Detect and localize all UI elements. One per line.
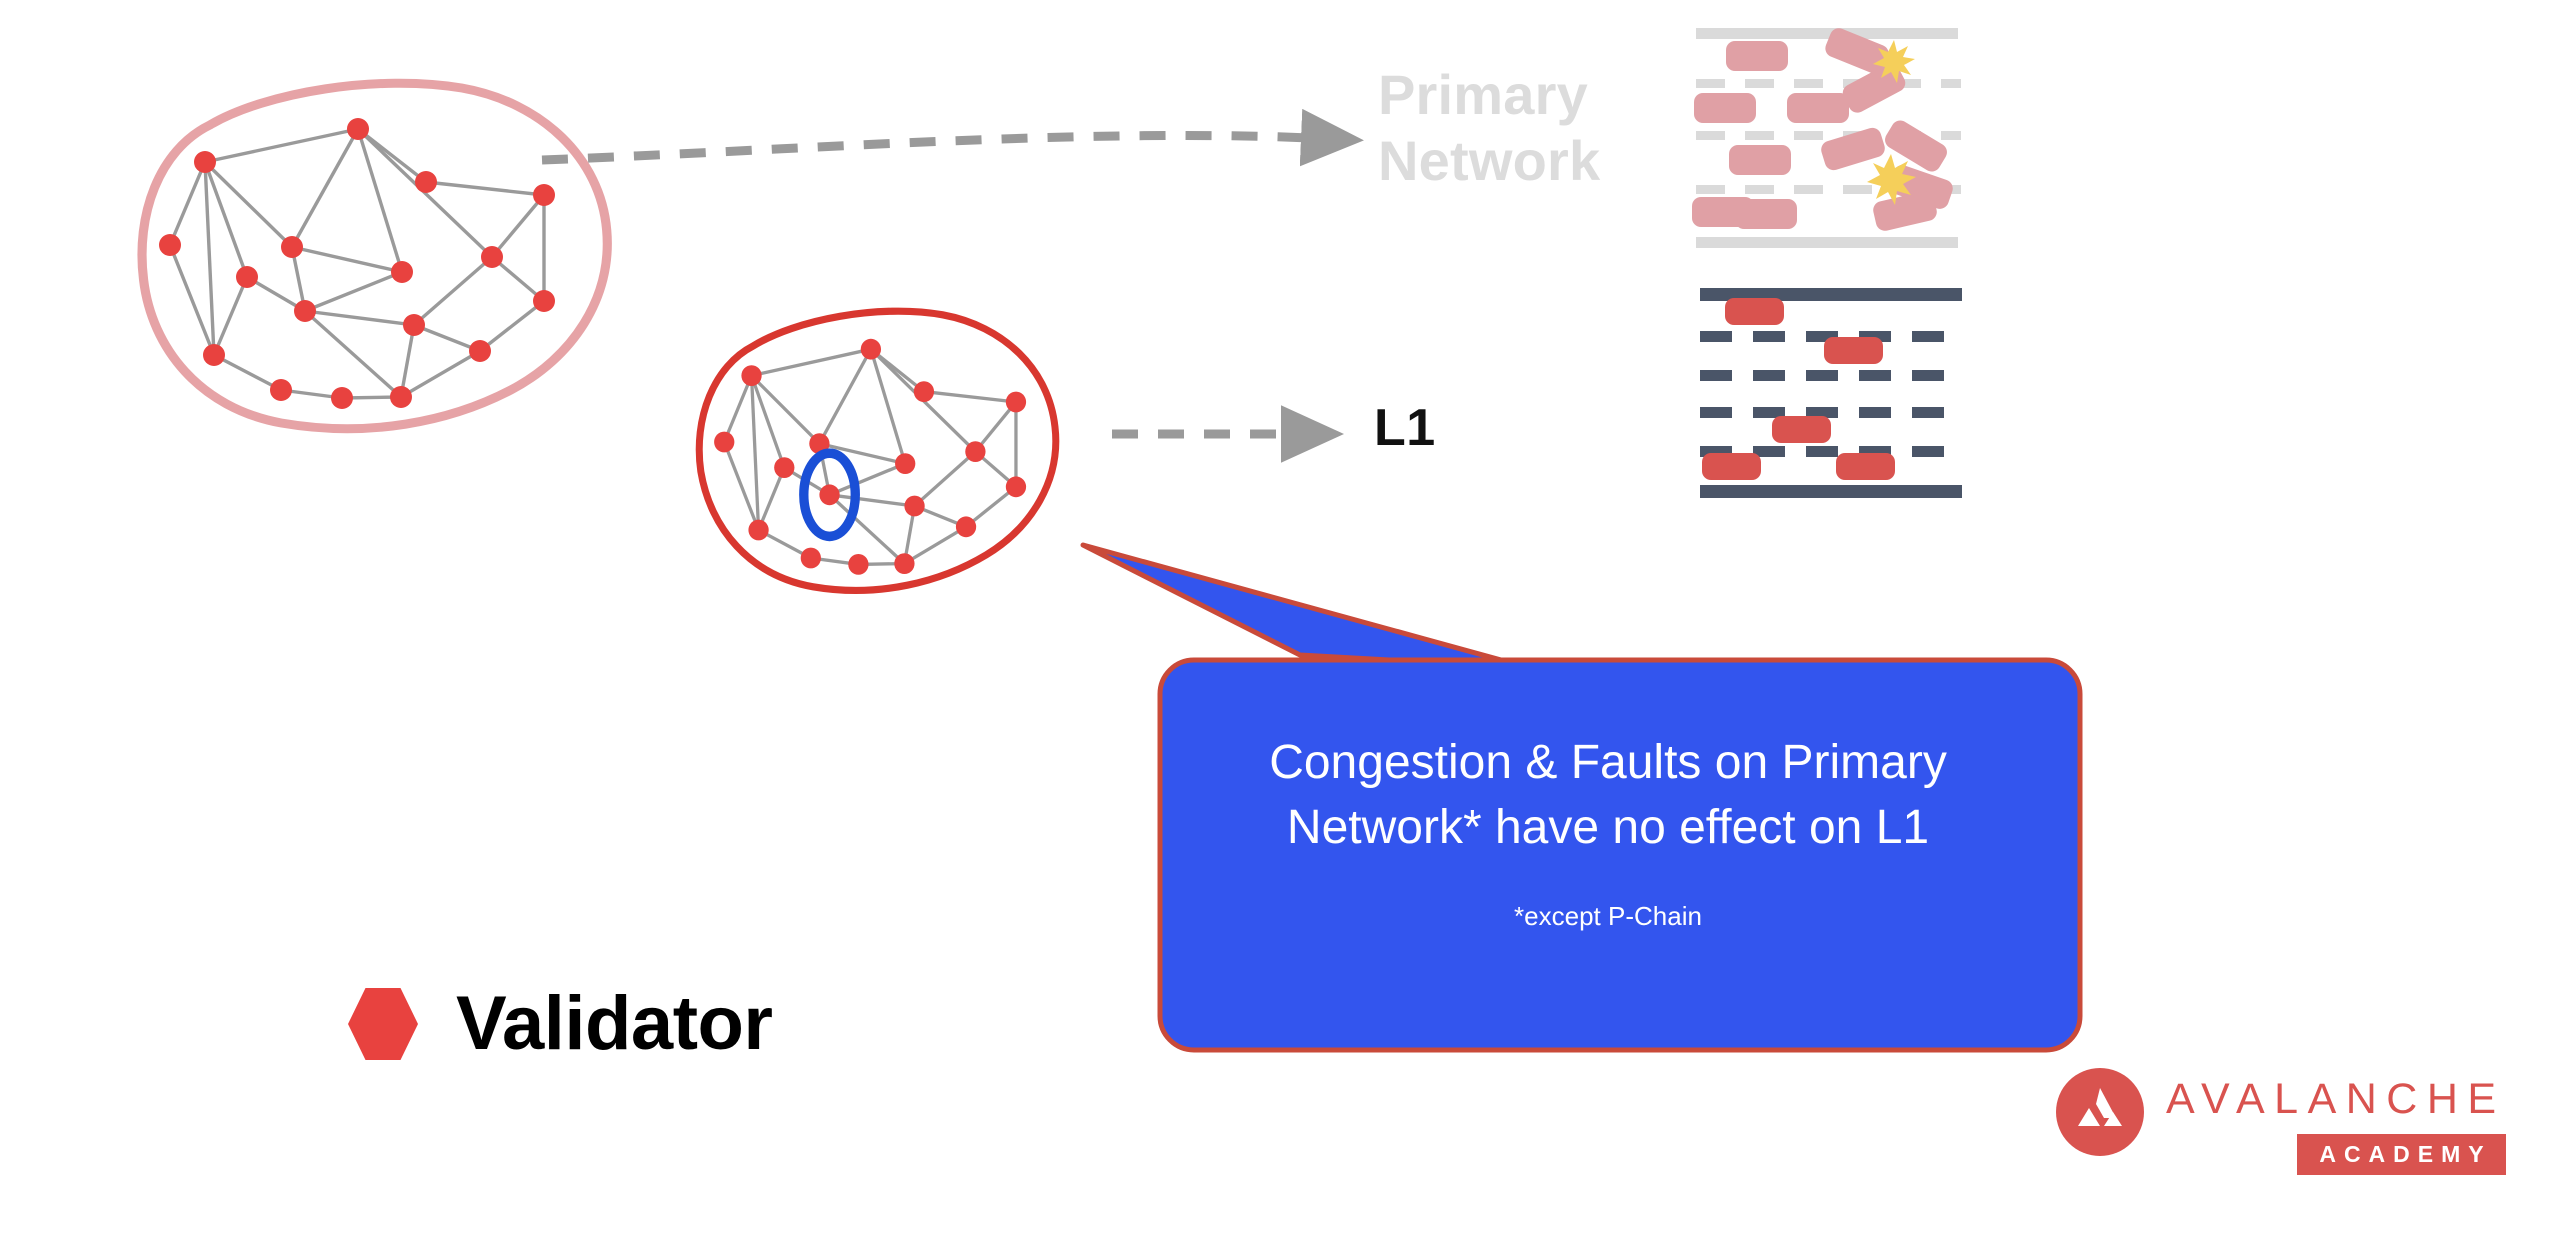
callout-bubble xyxy=(1083,545,2080,1050)
avalanche-logo-icon xyxy=(2056,1068,2144,1156)
primary-network-traffic xyxy=(1692,25,1961,248)
l1-label: L1 xyxy=(1374,398,1436,458)
validator-legend-label: Validator xyxy=(456,980,773,1067)
logo-brand-text: AVALANCHE xyxy=(2166,1078,2506,1121)
callout-body xyxy=(1160,660,2080,1050)
l1-traffic xyxy=(1700,288,1962,498)
arrow-to-primary-network xyxy=(542,135,1310,160)
logo-academy-badge: ACADEMY xyxy=(2297,1134,2505,1175)
l1-graph xyxy=(714,339,1026,575)
slide-canvas: Primary Network L1 Congestion & Faults o… xyxy=(0,0,2558,1258)
logo-text-group: AVALANCHE ACADEMY xyxy=(2166,1068,2506,1175)
traffic-cars xyxy=(1692,25,1955,232)
callout-tail xyxy=(1083,545,1530,668)
diagram-scene: Primary Network L1 Congestion & Faults o… xyxy=(0,0,2558,1258)
validator-legend: Validator xyxy=(348,980,773,1067)
primary-network-label: Primary Network xyxy=(1378,62,1678,194)
hexagon-icon xyxy=(348,986,418,1062)
primary-network-graph xyxy=(159,118,555,409)
avalanche-academy-logo: AVALANCHE ACADEMY xyxy=(2056,1068,2506,1175)
primary-network-blob xyxy=(142,83,607,428)
